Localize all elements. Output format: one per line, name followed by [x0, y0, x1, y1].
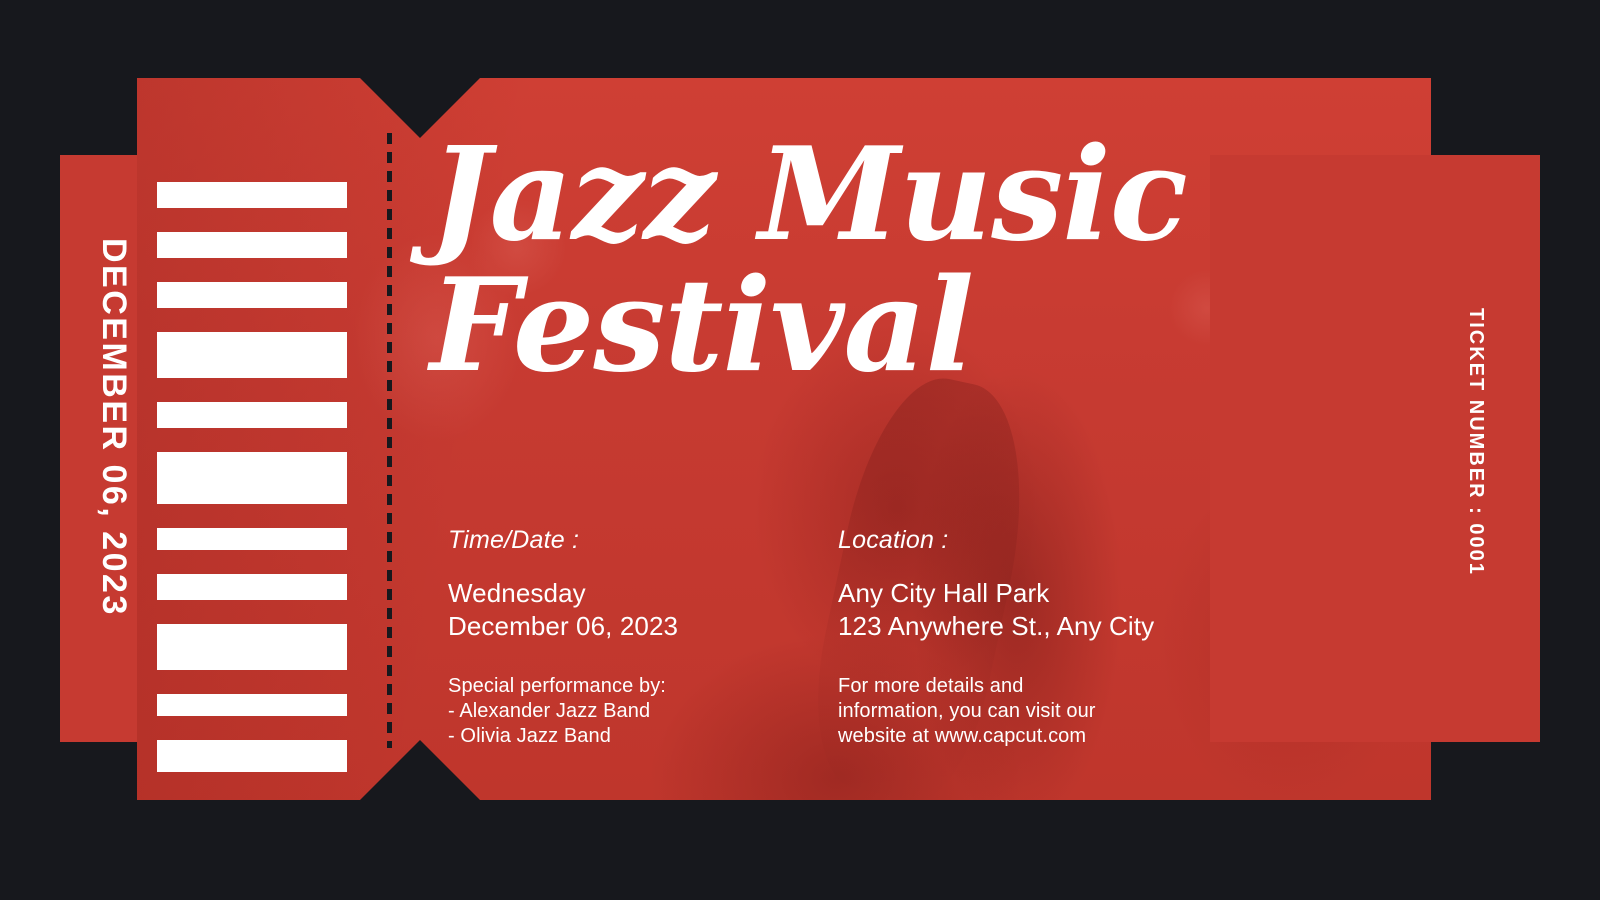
time-date-column: Time/Date : Wednesday December 06, 2023 …: [448, 526, 838, 750]
barcode-gap: [157, 600, 347, 624]
barcode-gap: [157, 258, 347, 282]
ticket-number-label: TICKET NUMBER : 0001: [1464, 308, 1487, 576]
stub-date-label: DECEMBER 06, 2023: [94, 238, 133, 617]
location-column: Location : Any City Hall Park 123 Anywhe…: [838, 526, 1258, 750]
barcode-gap: [157, 670, 347, 694]
barcode-gap: [157, 428, 347, 452]
barcode-bar: [157, 402, 347, 428]
time-date-value: Wednesday December 06, 2023: [448, 577, 838, 644]
website-note-line-2: information, you can visit our: [838, 699, 1258, 724]
barcode-bar: [157, 232, 347, 258]
website-note: For more details and information, you ca…: [838, 674, 1258, 750]
time-date-line-2: December 06, 2023: [448, 611, 678, 641]
location-value: Any City Hall Park 123 Anywhere St., Any…: [838, 577, 1258, 644]
barcode-bar: [157, 624, 347, 670]
barcode-gap: [157, 208, 347, 232]
title-line-2: Festival: [430, 261, 1290, 392]
performers-note-line-2: - Alexander Jazz Band: [448, 699, 838, 724]
barcode-bar: [157, 452, 347, 504]
screenshot-canvas: DECEMBER 06, 2023 TICKET NUMBER : 0001 J…: [0, 0, 1600, 900]
title-line-1: Jazz Music: [430, 120, 1187, 270]
barcode-gap: [157, 716, 347, 740]
location-line-2: 123 Anywhere St., Any City: [838, 611, 1154, 641]
time-date-label: Time/Date :: [448, 526, 838, 555]
website-note-line-1: For more details and: [838, 674, 1258, 699]
performers-note-line-3: - Olivia Jazz Band: [448, 724, 838, 749]
barcode-gap: [157, 550, 347, 574]
performers-note: Special performance by: - Alexander Jazz…: [448, 674, 838, 750]
performers-note-line-1: Special performance by:: [448, 674, 838, 699]
barcode-bar: [157, 740, 347, 772]
location-line-1: Any City Hall Park: [838, 578, 1049, 608]
barcode-bar: [157, 694, 347, 716]
website-note-line-3: website at www.capcut.com: [838, 724, 1258, 749]
ticket-details: Time/Date : Wednesday December 06, 2023 …: [448, 526, 1348, 750]
barcode-gap: [157, 308, 347, 332]
perforation-dashed-line: [387, 133, 392, 748]
barcode-bar: [157, 332, 347, 378]
location-label: Location :: [838, 526, 1258, 555]
barcode: [157, 182, 347, 772]
barcode-gap: [157, 504, 347, 528]
barcode-bar: [157, 528, 347, 550]
barcode-bar: [157, 282, 347, 308]
time-date-line-1: Wednesday: [448, 578, 586, 608]
barcode-bar: [157, 182, 347, 208]
barcode-bar: [157, 574, 347, 600]
barcode-gap: [157, 378, 347, 402]
event-ticket: DECEMBER 06, 2023 TICKET NUMBER : 0001 J…: [60, 78, 1540, 800]
page-title: Jazz Music Festival: [430, 130, 1290, 391]
